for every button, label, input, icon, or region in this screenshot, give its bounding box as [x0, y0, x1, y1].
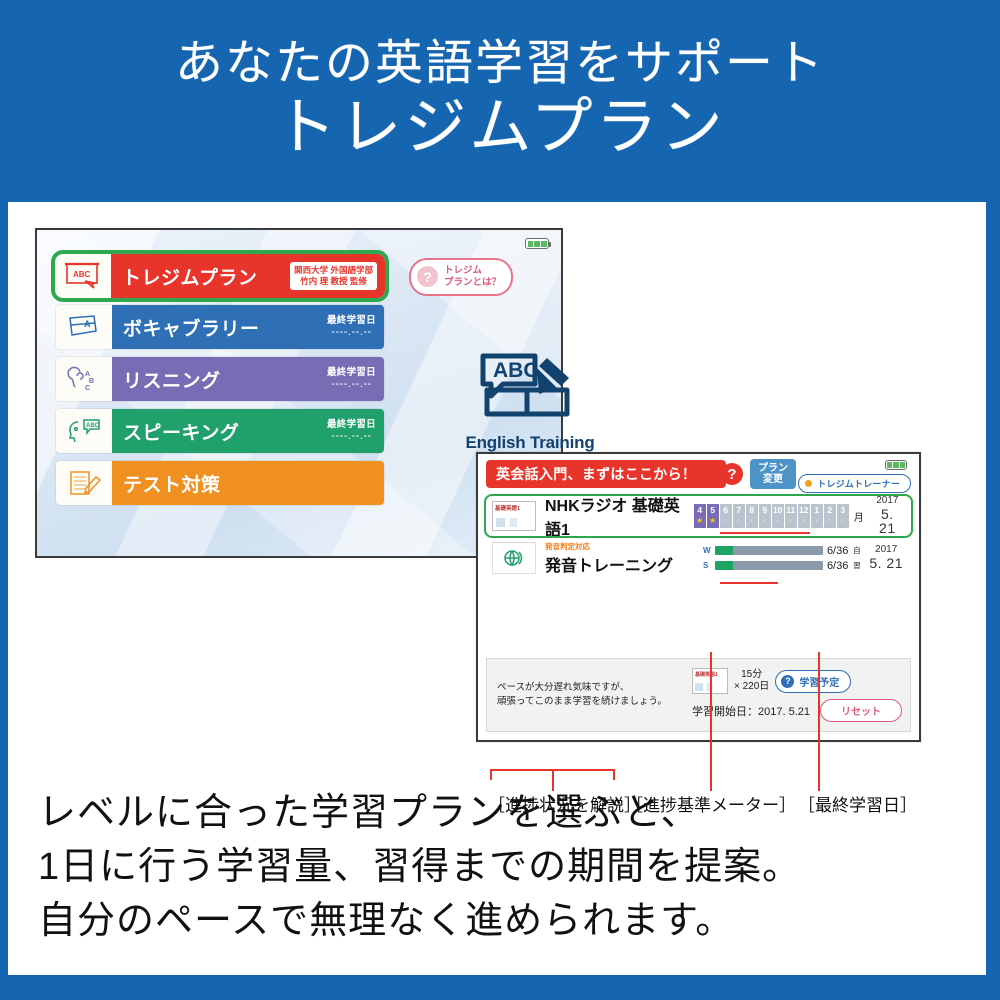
- progress-bar: [715, 561, 823, 570]
- last-study-value: ----.--.--: [327, 431, 376, 443]
- question-icon: ?: [781, 675, 794, 688]
- svg-text:A: A: [84, 319, 91, 329]
- speaking-head-icon: ABC: [56, 409, 112, 453]
- progress-row: S 6/36 習: [703, 560, 861, 572]
- menu-item-label: リスニング: [112, 357, 327, 401]
- progress-meter-group: W 6/36 自 S 6/36 習: [703, 545, 861, 572]
- menu-item-label: スピーキング: [112, 409, 327, 453]
- test-sheet-pencil-icon: [56, 461, 112, 505]
- month-label: 6: [723, 505, 728, 515]
- what-is-trezim-button[interactable]: ? トレジム プランとは？: [409, 258, 513, 296]
- calc-amount: 15分 × 220日: [734, 669, 769, 694]
- month-cell: 1·: [811, 504, 824, 528]
- progress-value: 6/36: [827, 545, 848, 557]
- hero-banner: あなたの英語学習をサポート トレジムプラン: [0, 0, 1000, 202]
- device-screen-plan: 英会話入門、まずはここから！ ? プラン 変更 トレジムトレーナー 基礎英語1: [476, 452, 921, 742]
- last-study-date: 2017 5. 21: [869, 545, 903, 570]
- reset-button[interactable]: リセット: [820, 699, 902, 722]
- last-study-date: 最終学習日 ----.--.--: [327, 316, 376, 339]
- date-day: 5. 21: [869, 556, 903, 571]
- whiteboard-abc-icon: ABC: [55, 254, 111, 298]
- month-cell: 8·: [746, 504, 759, 528]
- copy-line-2: 1日に行う学習量、習得までの期間を提案。: [38, 841, 801, 895]
- svg-text:ABC: ABC: [493, 359, 539, 382]
- callout-stem: [818, 652, 820, 791]
- month-label: 8: [749, 505, 754, 515]
- copy-line-1: レベルに合った学習プランを選ぶと、: [38, 787, 801, 841]
- month-progress-meter: 4★ 5★ 6· 7· 8· 9· 10· 11· 12· 1· 2· 3· 月: [694, 504, 864, 528]
- ear-icon: A B C: [56, 357, 112, 401]
- plan-change-line2: 変更: [763, 474, 783, 486]
- last-study-date: 最終学習日 ----.--.--: [327, 368, 376, 391]
- svg-text:ABC: ABC: [86, 423, 100, 429]
- last-study-label: 最終学習日: [327, 316, 376, 326]
- what-is-line1: トレジム: [444, 265, 482, 276]
- battery-icon: [525, 238, 549, 249]
- course-row-pronunciation[interactable]: 発音判定対応 発音トレーニング W 6/36 自 S 6/36 習: [486, 538, 911, 578]
- hero-title: トレジムプラン: [274, 93, 725, 162]
- progress-side-label: 習: [852, 562, 861, 570]
- month-label: 4: [697, 505, 702, 515]
- course-thumbnail: 基礎英語1: [492, 501, 536, 531]
- month-cell: 6·: [720, 504, 733, 528]
- status-dot-icon: [805, 480, 812, 487]
- plan-change-button[interactable]: プラン 変更: [750, 459, 796, 489]
- page-root: あなたの英語学習をサポート トレジムプラン ABC ト: [0, 0, 1000, 1000]
- pronunciation-icon: [492, 542, 536, 574]
- plan-calc-group: 基礎英語1 15分 × 220日 ? 学習予定 学習開始日：: [692, 668, 902, 722]
- menu-item-label: ボキャブラリー: [112, 305, 327, 349]
- month-cell: 3·: [837, 504, 850, 528]
- month-label: 7: [736, 505, 741, 515]
- what-is-line2: プランとは？: [444, 277, 501, 288]
- month-cell: 11·: [785, 504, 798, 528]
- progress-bar: [715, 546, 823, 555]
- supervisor-badge: 関西大学 外国語学部 竹内 理 教授 監修: [290, 254, 385, 298]
- menu-item-speaking[interactable]: ABC スピーキング 最終学習日 ----.--.--: [55, 408, 385, 454]
- trainer-badge-label: トレジムトレーナー: [817, 477, 900, 490]
- plan-footer: ペースが大分遅れ気味ですが、 頑張ってこのまま学習を続けましょう。 基礎英語1 …: [486, 658, 911, 732]
- course-tag: 発音判定対応: [545, 541, 673, 552]
- last-study-label: 最終学習日: [327, 420, 376, 430]
- progress-key: S: [703, 561, 711, 570]
- svg-text:C: C: [85, 385, 90, 392]
- month-cell: 12·: [798, 504, 811, 528]
- date-year: 2017: [872, 496, 903, 507]
- progress-row: W 6/36 自: [703, 545, 861, 557]
- menu-item-test-prep[interactable]: テスト対策: [55, 460, 385, 506]
- copy-line-3: 自分のペースで無理なく進められます。: [38, 895, 801, 949]
- progress-side-label: 自: [852, 547, 861, 555]
- date-day: 5. 21: [872, 507, 903, 536]
- calc-minutes: 15分: [734, 669, 769, 682]
- callout-stem: [710, 652, 712, 791]
- menu-item-label: テスト対策: [112, 461, 376, 505]
- supervisor-line1: 関西大学 外国語学部: [294, 265, 373, 275]
- content-card: ABC トレジムプラン 関西大学 外国語学部 竹内 理 教授 監修: [8, 202, 986, 975]
- svg-text:ABC: ABC: [73, 270, 91, 279]
- question-icon[interactable]: ?: [721, 463, 743, 485]
- month-label: 9: [762, 505, 767, 515]
- month-cell: 7·: [733, 504, 746, 528]
- advice-line2: 頑張ってこのまま学習を続けましょう。: [497, 696, 667, 707]
- supervisor-line2: 竹内 理 教授 監修: [300, 276, 367, 286]
- course-thumb-label: 基礎英語1: [495, 504, 520, 512]
- month-label: 11: [786, 505, 795, 515]
- last-study-date: 2017 5. 21: [872, 496, 903, 536]
- advice-text: ペースが大分遅れ気味ですが、 頑張ってこのまま学習を続けましょう。: [497, 681, 667, 710]
- callout-label-last-study: ［最終学習日］: [798, 791, 917, 816]
- advice-line1: ペースが大分遅れ気味ですが、: [497, 682, 629, 693]
- menu-item-label: トレジムプラン: [111, 254, 290, 298]
- last-study-label: 最終学習日: [327, 368, 376, 378]
- study-schedule-button[interactable]: ? 学習予定: [775, 670, 851, 693]
- plan-banner: 英会話入門、まずはここから！: [486, 460, 726, 488]
- month-cell: 2·: [824, 504, 837, 528]
- last-study-value: ----.--.--: [327, 327, 376, 339]
- menu-item-listening[interactable]: A B C リスニング 最終学習日 ----.--.--: [55, 356, 385, 402]
- menu-item-trezim-plan[interactable]: ABC トレジムプラン 関西大学 外国語学部 竹内 理 教授 監修: [55, 254, 385, 298]
- course-row-nhk[interactable]: 基礎英語1 NHKラジオ 基礎英語1 4★ 5★ 6· 7· 8· 9· 10·…: [486, 496, 911, 536]
- question-icon: ?: [417, 266, 438, 287]
- svg-text:B: B: [89, 378, 94, 385]
- month-label: 1: [814, 505, 819, 515]
- course-name-text: 発音トレーニング: [545, 558, 673, 575]
- month-cell: 9·: [759, 504, 772, 528]
- abc-speech-bubble-pencil-icon: ABC: [469, 350, 591, 424]
- calc-days: × 220日: [734, 681, 769, 694]
- progress-key: W: [703, 546, 711, 555]
- meter-underline: [720, 582, 778, 584]
- menu-item-vocabulary[interactable]: A ボキャブラリー 最終学習日 ----.--.--: [55, 304, 385, 350]
- hero-subtitle: あなたの英語学習をサポート: [175, 39, 825, 89]
- marketing-copy: レベルに合った学習プランを選ぶと、 1日に行う学習量、習得までの期間を提案。 自…: [38, 787, 801, 949]
- battery-icon: [885, 460, 907, 470]
- month-label: 5: [710, 505, 715, 515]
- svg-text:A: A: [85, 371, 90, 378]
- course-name: NHKラジオ 基礎英語1: [545, 492, 694, 540]
- course-name: 発音判定対応 発音トレーニング: [545, 541, 673, 576]
- flashcards-icon: A: [56, 305, 112, 349]
- plan-change-line1: プラン: [758, 463, 788, 475]
- month-cell: 4★: [694, 504, 707, 528]
- meter-underline: [720, 532, 810, 534]
- last-study-date: 最終学習日 ----.--.--: [327, 420, 376, 443]
- progress-value: 6/36: [827, 560, 848, 572]
- trainer-badge[interactable]: トレジムトレーナー: [798, 474, 911, 493]
- home-menu-list: ABC トレジムプラン 関西大学 外国語学部 竹内 理 教授 監修: [55, 254, 385, 512]
- month-label: 3: [840, 505, 845, 515]
- calc-thumb-label: 基礎英語1: [695, 671, 718, 678]
- month-label: 2: [827, 505, 832, 515]
- last-study-value: ----.--.--: [327, 379, 376, 391]
- month-cell: 5★: [707, 504, 720, 528]
- month-label: 12: [799, 505, 808, 515]
- month-label: 10: [773, 505, 782, 515]
- plan-screen-header: 英会話入門、まずはここから！ ? プラン 変更 トレジムトレーナー: [478, 454, 919, 494]
- month-cell: 10·: [772, 504, 785, 528]
- month-unit: 月: [854, 509, 864, 524]
